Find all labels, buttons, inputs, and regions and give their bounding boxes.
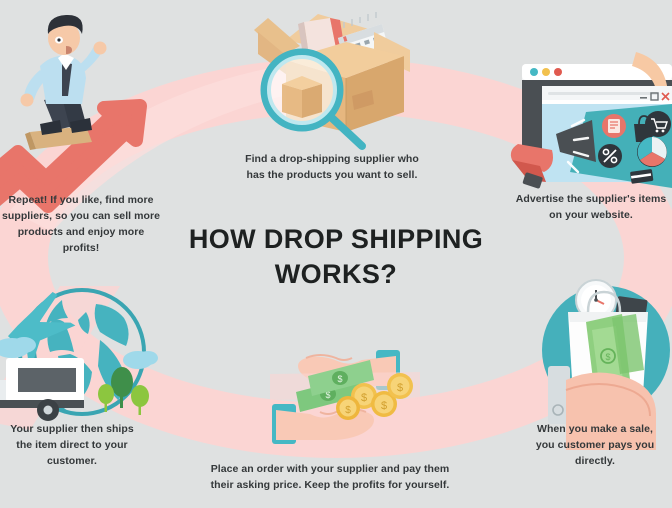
infographic-canvas: $ $ $	[0, 0, 672, 508]
caption-customer-pays: When you make a sale, you customer pays …	[518, 422, 672, 470]
caption-advertise: Advertise the supplier's items on your w…	[512, 192, 670, 224]
caption-supplier-ships: Your supplier then ships the item direct…	[0, 422, 152, 470]
caption-line: Place an order with your supplier and pa…	[196, 462, 464, 478]
caption-line: Your supplier then ships	[0, 422, 152, 438]
caption-repeat: Repeat! If you like, find more suppliers…	[0, 193, 164, 257]
caption-place-order: Place an order with your supplier and pa…	[196, 462, 464, 494]
caption-line: suppliers, so you can sell more	[0, 209, 164, 225]
caption-line: their asking price. Keep the profits for…	[196, 478, 464, 494]
caption-line: you customer pays you directly.	[518, 438, 672, 470]
caption-line: Find a drop-shipping supplier who	[236, 152, 428, 168]
caption-line: Repeat! If you like, find more	[0, 193, 164, 209]
caption-line: Advertise the supplier's items	[512, 192, 670, 208]
caption-line: has the products you want to sell.	[236, 168, 428, 184]
caption-line: products and enjoy more profits!	[0, 225, 164, 257]
caption-find-supplier: Find a drop-shipping supplier who has th…	[236, 152, 428, 184]
caption-line: the item direct to your customer.	[0, 438, 152, 470]
caption-line: When you make a sale,	[518, 422, 672, 438]
caption-line: on your website.	[512, 208, 670, 224]
